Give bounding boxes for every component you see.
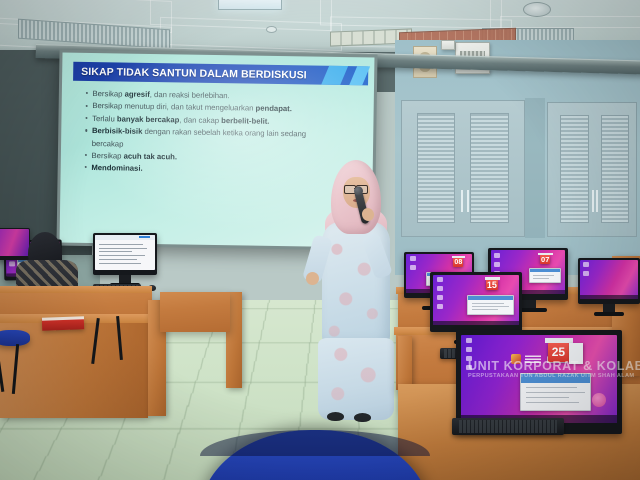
monitor-left-back[interactable] — [93, 233, 157, 275]
classroom-photo: SIKAP TIDAK SANTUN DALAM BERDISKUSI Bers… — [0, 0, 640, 480]
monitor-right-c[interactable]: 15 — [430, 272, 522, 332]
presenter-skirt — [318, 338, 394, 420]
storage-cabinet-2[interactable] — [547, 102, 637, 237]
bullet-dot-icon — [85, 154, 87, 156]
flower-decoration-icon — [592, 393, 606, 407]
presenter-hand-left — [306, 272, 319, 285]
bullet-dot-icon — [85, 166, 87, 168]
badge-07: 07 — [540, 255, 550, 265]
screen-left-back — [95, 235, 155, 271]
watermark: UNIT KORPORAT & KOLABORASI PERPUSTAKAAN … — [468, 360, 640, 380]
chair-left[interactable] — [0, 330, 30, 346]
window-popup[interactable] — [467, 295, 514, 315]
presenter-shoe-left — [327, 412, 344, 421]
microphone-head — [353, 186, 364, 197]
screen-right-d — [580, 260, 638, 299]
bullet-dot-icon — [85, 117, 87, 119]
badge-15: 15 — [486, 279, 497, 290]
monitor-right-d[interactable] — [578, 258, 640, 304]
desk-top-left-back — [0, 286, 152, 293]
list-item-continuation: bercakap — [85, 138, 363, 151]
watermark-line-2: PERPUSTAKAAN TUN ABDUL RAZAK UiTM SHAH A… — [468, 374, 640, 380]
cabinet-gap — [525, 98, 545, 238]
list-item: Bersikap menutup diri, dan takut mengelu… — [86, 101, 364, 115]
presenter-shoe-right — [354, 413, 371, 422]
document-page — [95, 235, 155, 271]
slide-title: SIKAP TIDAK SANTUN DALAM BERDISKUSI — [73, 65, 307, 81]
window-popup[interactable] — [529, 268, 561, 283]
smoke-detector-icon — [266, 26, 277, 33]
wall-switch-icon — [441, 40, 455, 50]
desk-mid — [160, 292, 230, 332]
screen-right-c: 15 — [433, 275, 519, 326]
keyboard-front-center[interactable] — [452, 418, 564, 435]
list-item: Berbisik-bisik dengan rakan sebelah keti… — [85, 126, 363, 140]
bullet-dot-icon — [85, 129, 87, 131]
wall-right — [395, 40, 640, 275]
list-item: Bersikap agresif, dan reaksi berlebihan. — [86, 89, 364, 103]
ceiling-speaker-icon — [523, 2, 551, 17]
screen-left-edge — [0, 229, 29, 256]
bullet-dot-icon — [86, 92, 88, 94]
storage-cabinet-1[interactable] — [401, 100, 525, 237]
badge-08: 08 — [453, 258, 463, 267]
ceiling-light-panel — [218, 0, 282, 10]
watermark-line-1: UNIT KORPORAT & KOLABORASI — [468, 360, 640, 373]
bullet-dot-icon — [86, 105, 88, 107]
monitor-left-edge[interactable] — [0, 228, 30, 260]
list-item: Terlalu banyak bercakap, dan cakap berbe… — [85, 114, 363, 128]
